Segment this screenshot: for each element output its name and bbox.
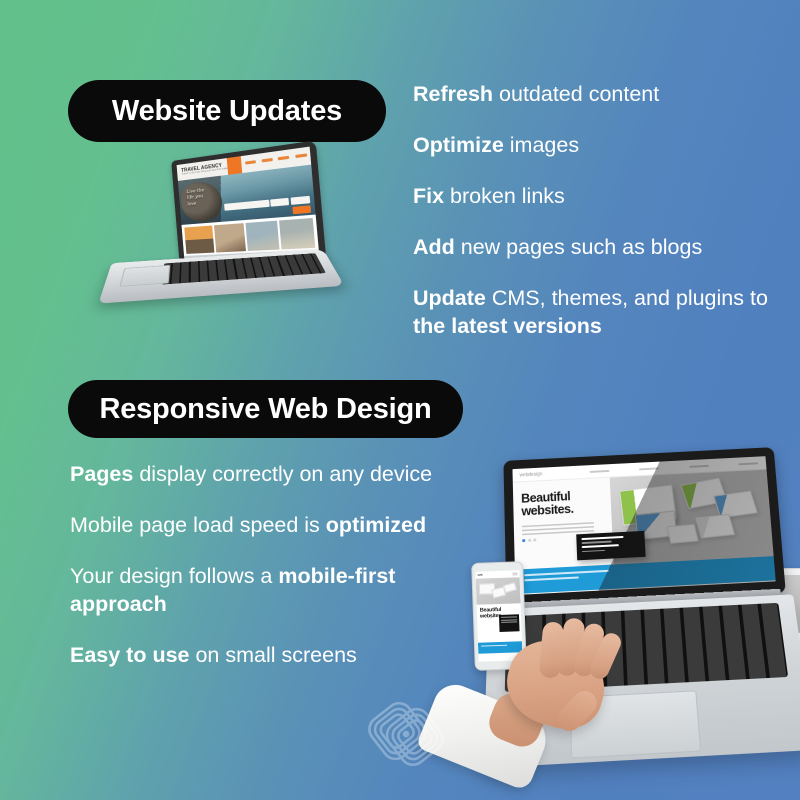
- bullet-text: Your design follows a: [70, 564, 278, 588]
- travel-site-search-button: [292, 205, 311, 214]
- menu-link-placeholder: [639, 467, 659, 470]
- bullet-text: new pages such as blogs: [455, 235, 702, 259]
- bullet-item: Add new pages such as blogs: [413, 233, 788, 261]
- hand-on-trackpad-photo: [445, 636, 660, 800]
- bullet-text: Mobile page load speed is: [70, 513, 326, 537]
- laptop-screen-webdesign: webdesign Beautiful websites.: [512, 456, 775, 595]
- section-heading-website-updates: Website Updates: [68, 80, 386, 142]
- bullet-list-website-updates: Refresh outdated content Optimize images…: [413, 80, 788, 340]
- search-field-guests: [290, 196, 310, 205]
- bullet-bold-suffix: the latest versions: [413, 314, 602, 338]
- bullet-bold-prefix: Fix: [413, 184, 444, 208]
- webdesign-headline: Beautiful websites.: [521, 488, 611, 519]
- carousel-dot: [528, 538, 531, 541]
- bullet-text: display correctly on any device: [133, 462, 432, 486]
- card-text-line: [501, 616, 517, 618]
- bullet-item: Pages display correctly on any device: [70, 460, 490, 488]
- headline-line-2: websites.: [521, 501, 611, 519]
- hamburger-menu-icon: [512, 572, 517, 575]
- phone-logo: web: [478, 574, 483, 577]
- bullet-bold-suffix: optimized: [326, 513, 426, 537]
- watermark-center-dot: [403, 731, 410, 738]
- laptop-trackpad: [119, 265, 170, 287]
- gallery-thumb: [184, 225, 214, 253]
- laptop-lid: TRAVEL AGENCY Travel is the only thing y…: [171, 140, 326, 265]
- mockup-floating-screen: [695, 514, 735, 539]
- menu-link-placeholder: [590, 469, 610, 472]
- laptop-lid-responsive: webdesign Beautiful websites.: [503, 447, 785, 608]
- webdesign-subtext-lines: [522, 519, 594, 535]
- bullet-text: CMS, themes, and plugins to: [486, 286, 768, 310]
- card-text-line: [501, 619, 517, 621]
- laptop-base: [98, 249, 344, 304]
- infographic-canvas: Website Updates TRAVEL AGENCY Travel is …: [0, 0, 800, 800]
- carousel-dot: [533, 538, 536, 541]
- gallery-thumb: [246, 220, 280, 250]
- nav-link-placeholder: [261, 158, 272, 162]
- bullet-item: Optimize images: [413, 131, 788, 159]
- bullet-bold-prefix: Optimize: [413, 133, 504, 157]
- laptop-keyboard: [162, 253, 326, 284]
- carousel-dot-active: [522, 539, 525, 542]
- menu-link-placeholder: [738, 462, 758, 465]
- mockup-floating-screen: [666, 524, 698, 544]
- card-text-line: [501, 622, 517, 624]
- bullet-text: on small screens: [190, 643, 357, 667]
- search-field-date: [271, 198, 290, 207]
- bullet-text: images: [504, 133, 579, 157]
- logo-secondary-text: design: [528, 471, 542, 478]
- hero-script-text: Live thelife youlove: [186, 187, 205, 207]
- webdesign-dark-info-card: [576, 531, 645, 560]
- laptop-mockup-travel-agency: TRAVEL AGENCY Travel is the only thing y…: [109, 148, 326, 313]
- search-field-destination: [224, 200, 270, 211]
- card-text-line: [582, 549, 605, 552]
- bullet-item: Easy to use on small screens: [70, 641, 490, 669]
- watermark-logo-icon: [348, 692, 466, 778]
- phone-dark-card: [499, 614, 520, 632]
- section-heading-responsive-web-design: Responsive Web Design: [68, 380, 463, 438]
- travel-site-nav-accent: [227, 156, 242, 175]
- logo-primary-text: web: [519, 472, 528, 478]
- nav-link-placeholder: [278, 156, 290, 160]
- card-text-line: [582, 545, 619, 549]
- bullet-bold-prefix: Easy to use: [70, 643, 190, 667]
- bullet-list-responsive-web-design: Pages display correctly on any device Mo…: [70, 460, 490, 669]
- menu-link-placeholder: [689, 464, 709, 467]
- footer-text-line: [524, 576, 579, 581]
- nav-link-placeholder: [245, 160, 256, 164]
- bullet-item: Your design follows a mobile-first appro…: [70, 562, 490, 618]
- gallery-thumb: [214, 223, 246, 252]
- device-mockup-scene-responsive: webdesign Beautiful websites.: [455, 440, 800, 800]
- bullet-bold-prefix: Pages: [70, 462, 133, 486]
- phone-hero-image: [476, 577, 521, 605]
- bullet-item: Fix broken links: [413, 182, 788, 210]
- bullet-text: outdated content: [493, 82, 659, 106]
- gallery-thumb: [279, 217, 315, 248]
- bullet-item: Mobile page load speed is optimized: [70, 511, 490, 539]
- nav-link-placeholder: [295, 153, 307, 157]
- bullet-bold-prefix: Update: [413, 286, 486, 310]
- bullet-bold-prefix: Refresh: [413, 82, 493, 106]
- bullet-bold-prefix: Add: [413, 235, 455, 259]
- bullet-text: broken links: [444, 184, 565, 208]
- bullet-item: Update CMS, themes, and plugins to the l…: [413, 284, 788, 340]
- laptop-screen-travel-agency: TRAVEL AGENCY Travel is the only thing y…: [177, 147, 319, 259]
- travel-site-nav-links: [245, 153, 307, 164]
- webdesign-site-logo: webdesign: [513, 471, 543, 478]
- card-text-line: [581, 536, 623, 540]
- phone-hero-shape: [503, 582, 517, 593]
- bullet-item: Refresh outdated content: [413, 80, 788, 108]
- footer-text-line: [524, 570, 609, 576]
- card-text-line: [582, 541, 612, 544]
